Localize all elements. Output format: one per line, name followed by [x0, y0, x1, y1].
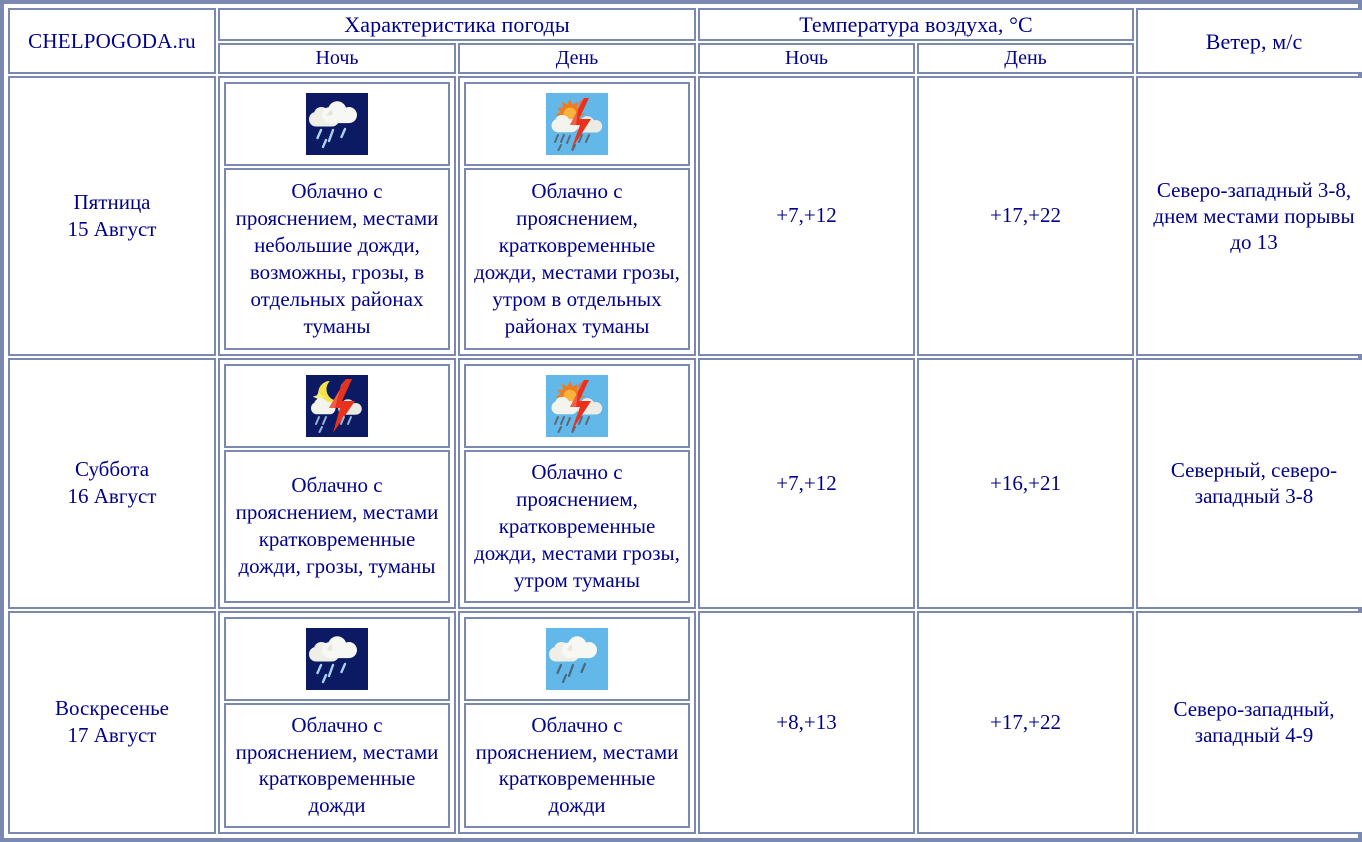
header-weather-day: День — [458, 43, 696, 74]
day-label-cell: Воскресенье 17 Август — [8, 611, 216, 834]
day-date: 15 Август — [14, 216, 210, 243]
night-icon-cell — [224, 82, 450, 166]
day-description: Облачно с прояснением, кратковременные д… — [464, 450, 690, 603]
header-temp-night: Ночь — [698, 43, 915, 74]
night-description: Облачно с прояснением, местами небольшие… — [224, 168, 450, 349]
weather-forecast-frame: CHELPOGODA.ru Характеристика погоды Темп… — [0, 0, 1362, 842]
table-header-row-groups: CHELPOGODA.ru Характеристика погоды Темп… — [8, 8, 1362, 41]
night-condition-cell: Облачно с прояснением, местами кратковре… — [218, 611, 456, 834]
temp-night-value: +8,+13 — [698, 611, 915, 834]
day-label-cell: Пятница 15 Август — [8, 76, 216, 355]
temp-day-value: +17,+22 — [917, 76, 1134, 355]
temp-day-value: +17,+22 — [917, 611, 1134, 834]
thunderstorm-moon-night-icon — [306, 375, 368, 437]
day-icon-cell — [464, 364, 690, 448]
rain-clouds-night-icon — [306, 628, 368, 690]
day-icon-cell — [464, 617, 690, 701]
temp-day-value: +16,+21 — [917, 358, 1134, 609]
weather-forecast-table: CHELPOGODA.ru Характеристика погоды Темп… — [6, 6, 1362, 836]
day-condition-cell: Облачно с прояснением, местами кратковре… — [458, 611, 696, 834]
wind-value: Северо-западный 3-8, днем местами порывы… — [1136, 76, 1362, 355]
table-row: Суббота 16 Август — [8, 358, 1362, 609]
night-condition-cell: Облачно с прояснением, местами небольшие… — [218, 76, 456, 355]
table-row: Воскресенье 17 Август — [8, 611, 1362, 834]
night-icon-cell — [224, 364, 450, 448]
day-label-cell: Суббота 16 Август — [8, 358, 216, 609]
thunderstorm-sun-day-icon — [546, 375, 608, 437]
night-description: Облачно с прояснением, местами кратковре… — [224, 450, 450, 603]
temp-night-value: +7,+12 — [698, 76, 915, 355]
site-logo[interactable]: CHELPOGODA.ru — [8, 8, 216, 74]
day-condition-cell: Облачно с прояснением, кратковременные д… — [458, 76, 696, 355]
header-temp-day: День — [917, 43, 1134, 74]
forecast-body: Пятница 15 Август — [8, 76, 1362, 834]
day-name: Пятница — [14, 189, 210, 216]
thunderstorm-sun-day-icon — [546, 93, 608, 155]
rain-clouds-day-icon — [546, 628, 608, 690]
night-condition-cell: Облачно с прояснением, местами кратковре… — [218, 358, 456, 609]
day-description: Облачно с прояснением, кратковременные д… — [464, 168, 690, 349]
night-icon-cell — [224, 617, 450, 701]
wind-value: Северо-западный, западный 4-9 — [1136, 611, 1362, 834]
wind-value: Северный, северо-западный 3-8 — [1136, 358, 1362, 609]
night-description: Облачно с прояснением, местами кратковре… — [224, 703, 450, 828]
day-date: 17 Август — [14, 722, 210, 749]
day-name: Воскресенье — [14, 695, 210, 722]
day-date: 16 Август — [14, 483, 210, 510]
header-weather-characteristics: Характеристика погоды — [218, 8, 696, 41]
header-air-temperature: Температура воздуха, °C — [698, 8, 1134, 41]
header-wind: Ветер, м/с — [1136, 8, 1362, 74]
day-name: Суббота — [14, 456, 210, 483]
day-icon-cell — [464, 82, 690, 166]
rain-clouds-night-icon — [306, 93, 368, 155]
table-row: Пятница 15 Август — [8, 76, 1362, 355]
header-weather-night: Ночь — [218, 43, 456, 74]
temp-night-value: +7,+12 — [698, 358, 915, 609]
day-description: Облачно с прояснением, местами кратковре… — [464, 703, 690, 828]
day-condition-cell: Облачно с прояснением, кратковременные д… — [458, 358, 696, 609]
